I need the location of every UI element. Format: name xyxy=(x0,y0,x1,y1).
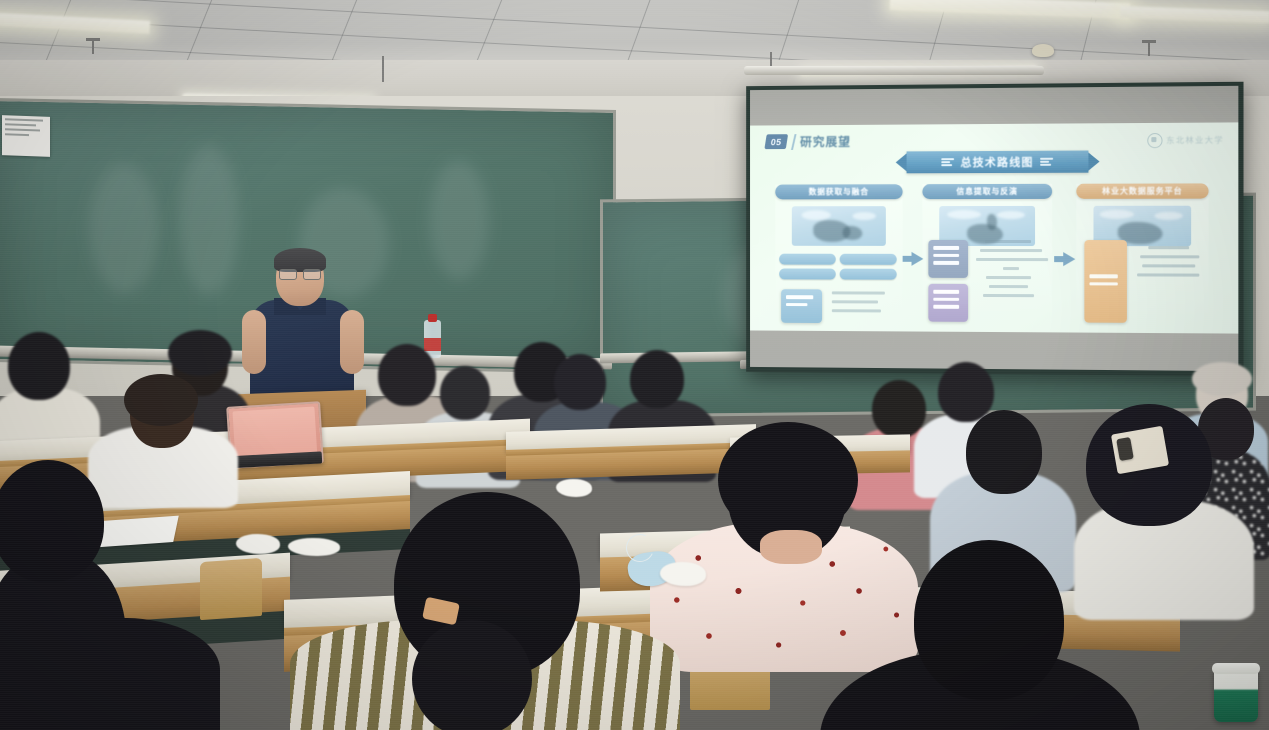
column-2-card-lower xyxy=(928,284,968,322)
green-travel-mug xyxy=(1214,668,1258,722)
column-1-card xyxy=(781,289,822,323)
column-3-card xyxy=(1084,240,1127,323)
ponytail xyxy=(412,620,532,730)
slide-banner: 总技术路线图 xyxy=(907,151,1089,174)
slide-section-title: 研究展望 xyxy=(800,133,851,150)
crumpled-tissue xyxy=(288,538,340,556)
lecturer-arm-right xyxy=(340,310,364,374)
university-emblem-icon xyxy=(1147,133,1162,148)
slide-section-number: 05 xyxy=(764,134,788,149)
roadmap-column-3: 林业大数据服务平台 xyxy=(1076,183,1208,325)
slide-banner-title: 总技术路线图 xyxy=(960,154,1033,170)
header-divider xyxy=(791,134,796,150)
bench-seat xyxy=(200,558,262,620)
column-1-illustration xyxy=(792,206,886,246)
university-name: 东北林业大学 xyxy=(1166,135,1224,146)
column-1-textlines xyxy=(832,291,891,318)
slide-header: 05 研究展望 xyxy=(766,133,851,150)
pill-item xyxy=(779,254,836,265)
university-logo: 东北林业大学 xyxy=(1147,133,1224,149)
pill-item xyxy=(840,254,897,265)
ceiling-light-left xyxy=(0,12,150,34)
tissue-beside-mask xyxy=(660,562,706,586)
banner-speedline-left xyxy=(942,158,955,166)
pill-item xyxy=(779,268,836,279)
roadmap-column-2: 信息提取与反演 xyxy=(922,184,1052,325)
ceiling-speaker xyxy=(1032,44,1054,57)
column-2-header: 信息提取与反演 xyxy=(922,184,1052,199)
roadmap-column-1: 数据获取与融合 xyxy=(775,184,902,323)
wall-notice xyxy=(2,115,50,157)
column-1-pills xyxy=(779,254,900,280)
column-3-header-text: 林业大数据服务平台 xyxy=(1102,185,1183,196)
ceiling-light-right xyxy=(890,0,1130,19)
classroom-photo: 05 研究展望 东北林业大学 总技术路线图 xyxy=(0,0,1269,730)
column-3-textlines xyxy=(1137,246,1204,283)
projector-screen-roller xyxy=(744,66,1044,75)
banner-speedline-right xyxy=(1040,158,1053,166)
ceiling-light-far-right xyxy=(1120,6,1269,23)
water-bottle xyxy=(424,312,441,358)
column-2-card-upper xyxy=(928,240,968,278)
glasses-icon xyxy=(279,269,321,278)
column-2-textlines xyxy=(976,240,1048,303)
column-1-header-text: 数据获取与融合 xyxy=(809,186,869,197)
pill-item xyxy=(840,269,897,280)
lecturer-arm-left xyxy=(242,310,266,374)
bottle-cap-icon xyxy=(428,314,437,322)
neck xyxy=(760,530,822,564)
crumpled-tissue xyxy=(236,534,280,554)
presentation-slide: 05 研究展望 东北林业大学 总技术路线图 xyxy=(750,122,1238,333)
column-1-header: 数据获取与融合 xyxy=(775,184,902,199)
projector-screen: 05 研究展望 东北林业大学 总技术路线图 xyxy=(746,82,1243,377)
column-3-header: 林业大数据服务平台 xyxy=(1076,183,1208,198)
crumpled-tissue xyxy=(556,479,592,497)
column-2-header-text: 信息提取与反演 xyxy=(956,186,1017,197)
cup-lid xyxy=(1212,663,1260,674)
